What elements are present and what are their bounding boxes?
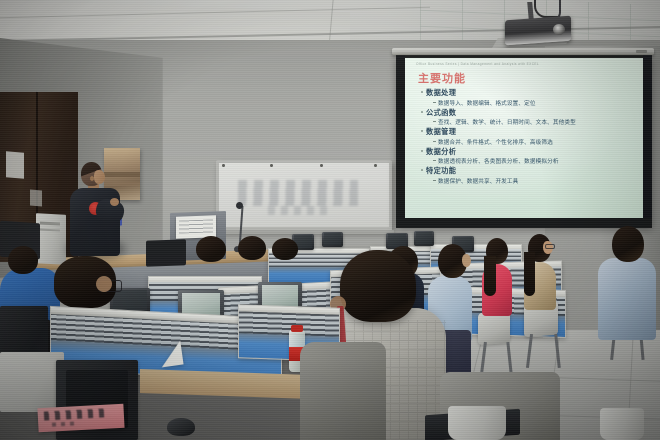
bullet-detail: 数据保护、数据共享、开发工具	[438, 177, 518, 185]
whiteboard-erased-writing	[268, 206, 330, 215]
slide-bullet-item: 数据管理 数据合并、条件格式、个性化排序、高级筛选	[421, 127, 639, 146]
attendee-face	[96, 276, 112, 292]
bullet-dot-icon	[421, 91, 423, 93]
instructor-monitor	[146, 239, 186, 266]
folded-paper	[158, 341, 183, 368]
presenter-ear	[90, 176, 94, 181]
bullet-dot-icon	[421, 111, 423, 113]
slide-bullet-list: 数据处理 数据导入、数据编辑、格式设置、定位 公式函数 查找、逻辑、数学、统计、…	[421, 88, 639, 186]
bullet-heading: 数据处理	[426, 88, 456, 98]
wall-poster-band	[104, 182, 140, 186]
monitor-screen	[324, 233, 342, 245]
lecture-notes-text	[179, 219, 213, 233]
bullet-heading: 特定功能	[426, 166, 456, 176]
bullet-heading: 数据分析	[426, 147, 456, 157]
attendee-hair	[484, 256, 496, 296]
screen-letterbox-left	[396, 55, 405, 227]
waste-bin	[600, 408, 644, 440]
lab-monitor	[414, 231, 434, 246]
microphone-icon	[236, 202, 243, 209]
bullet-dot-icon	[421, 169, 423, 171]
bullet-heading: 公式函数	[426, 108, 456, 118]
chair-back	[478, 311, 510, 345]
slide-bullet-item: 数据处理 数据导入、数据编辑、格式设置、定位	[421, 88, 639, 107]
screen-pull-knob[interactable]	[636, 50, 647, 53]
attendee-torso	[598, 258, 656, 340]
whiteboard-clip	[270, 164, 273, 167]
wall-notice-paper	[30, 189, 42, 206]
screen-letterbox-bottom	[396, 218, 652, 228]
slide-title: 主要功能	[418, 70, 466, 86]
sub-bullet-dash-icon	[433, 180, 436, 181]
attendee-head	[238, 236, 266, 260]
wall-notice-paper	[6, 151, 24, 179]
eyeglasses-icon	[545, 244, 555, 249]
lab-monitor	[322, 232, 343, 247]
whiteboard-clip	[222, 164, 225, 167]
attendee-head	[340, 250, 416, 322]
student-desk-surface	[140, 369, 310, 399]
bullet-detail: 查找、逻辑、数学、统计、日期时间、文本、其他类型	[438, 118, 576, 126]
slide-header-text: Office Business Series | Data Management…	[416, 62, 616, 66]
monitor-screen	[388, 234, 406, 246]
attendee-hair	[524, 252, 535, 296]
computer-mouse[interactable]	[167, 418, 195, 436]
screen-roller-housing	[392, 48, 654, 55]
bullet-detail: 数据透视表分析、各类图表分析、数据模拟分析	[438, 157, 559, 165]
bullet-detail: 数据合并、条件格式、个性化排序、高级筛选	[438, 138, 553, 146]
presenter-hand	[110, 198, 119, 206]
attendee-sleeve	[300, 342, 386, 440]
whiteboard-clip	[320, 164, 323, 167]
sub-bullet-dash-icon	[433, 160, 436, 161]
attendee-face	[462, 254, 471, 267]
waste-bin	[448, 406, 506, 440]
sub-bullet-dash-icon	[433, 141, 436, 142]
bottle-cap	[291, 325, 303, 332]
projector-lens-icon	[553, 24, 565, 35]
sub-bullet-dash-icon	[433, 121, 436, 122]
bullet-dot-icon	[421, 130, 423, 132]
attendee-head	[272, 238, 298, 260]
projected-slide: Office Business Series | Data Management…	[404, 58, 644, 220]
slide-content: Office Business Series | Data Management…	[404, 58, 644, 220]
sub-bullet-dash-icon	[433, 102, 436, 103]
wall-poster-band	[104, 172, 140, 177]
slide-bullet-item: 数据分析 数据透视表分析、各类图表分析、数据模拟分析	[421, 147, 639, 166]
presenter-face	[94, 170, 105, 184]
attendee-head	[8, 246, 38, 274]
whiteboard-clip	[374, 164, 377, 167]
monitor-screen	[416, 232, 433, 244]
slide-bullet-item: 特定功能 数据保护、数据共享、开发工具	[421, 166, 639, 185]
bullet-detail: 数据导入、数据编辑、格式设置、定位	[438, 99, 536, 107]
screen-letterbox-right	[643, 55, 652, 227]
lab-monitor-back	[0, 352, 64, 412]
bullet-heading: 数据管理	[426, 127, 456, 137]
whiteboard-erased-writing	[238, 180, 358, 206]
attendee-head	[196, 236, 226, 262]
attendee-head	[612, 226, 644, 262]
slide-bullet-item: 公式函数 查找、逻辑、数学、统计、日期时间、文本、其他类型	[421, 108, 639, 127]
bullet-dot-icon	[421, 150, 423, 152]
photo-scene: Office Business Series | Data Management…	[0, 0, 660, 440]
